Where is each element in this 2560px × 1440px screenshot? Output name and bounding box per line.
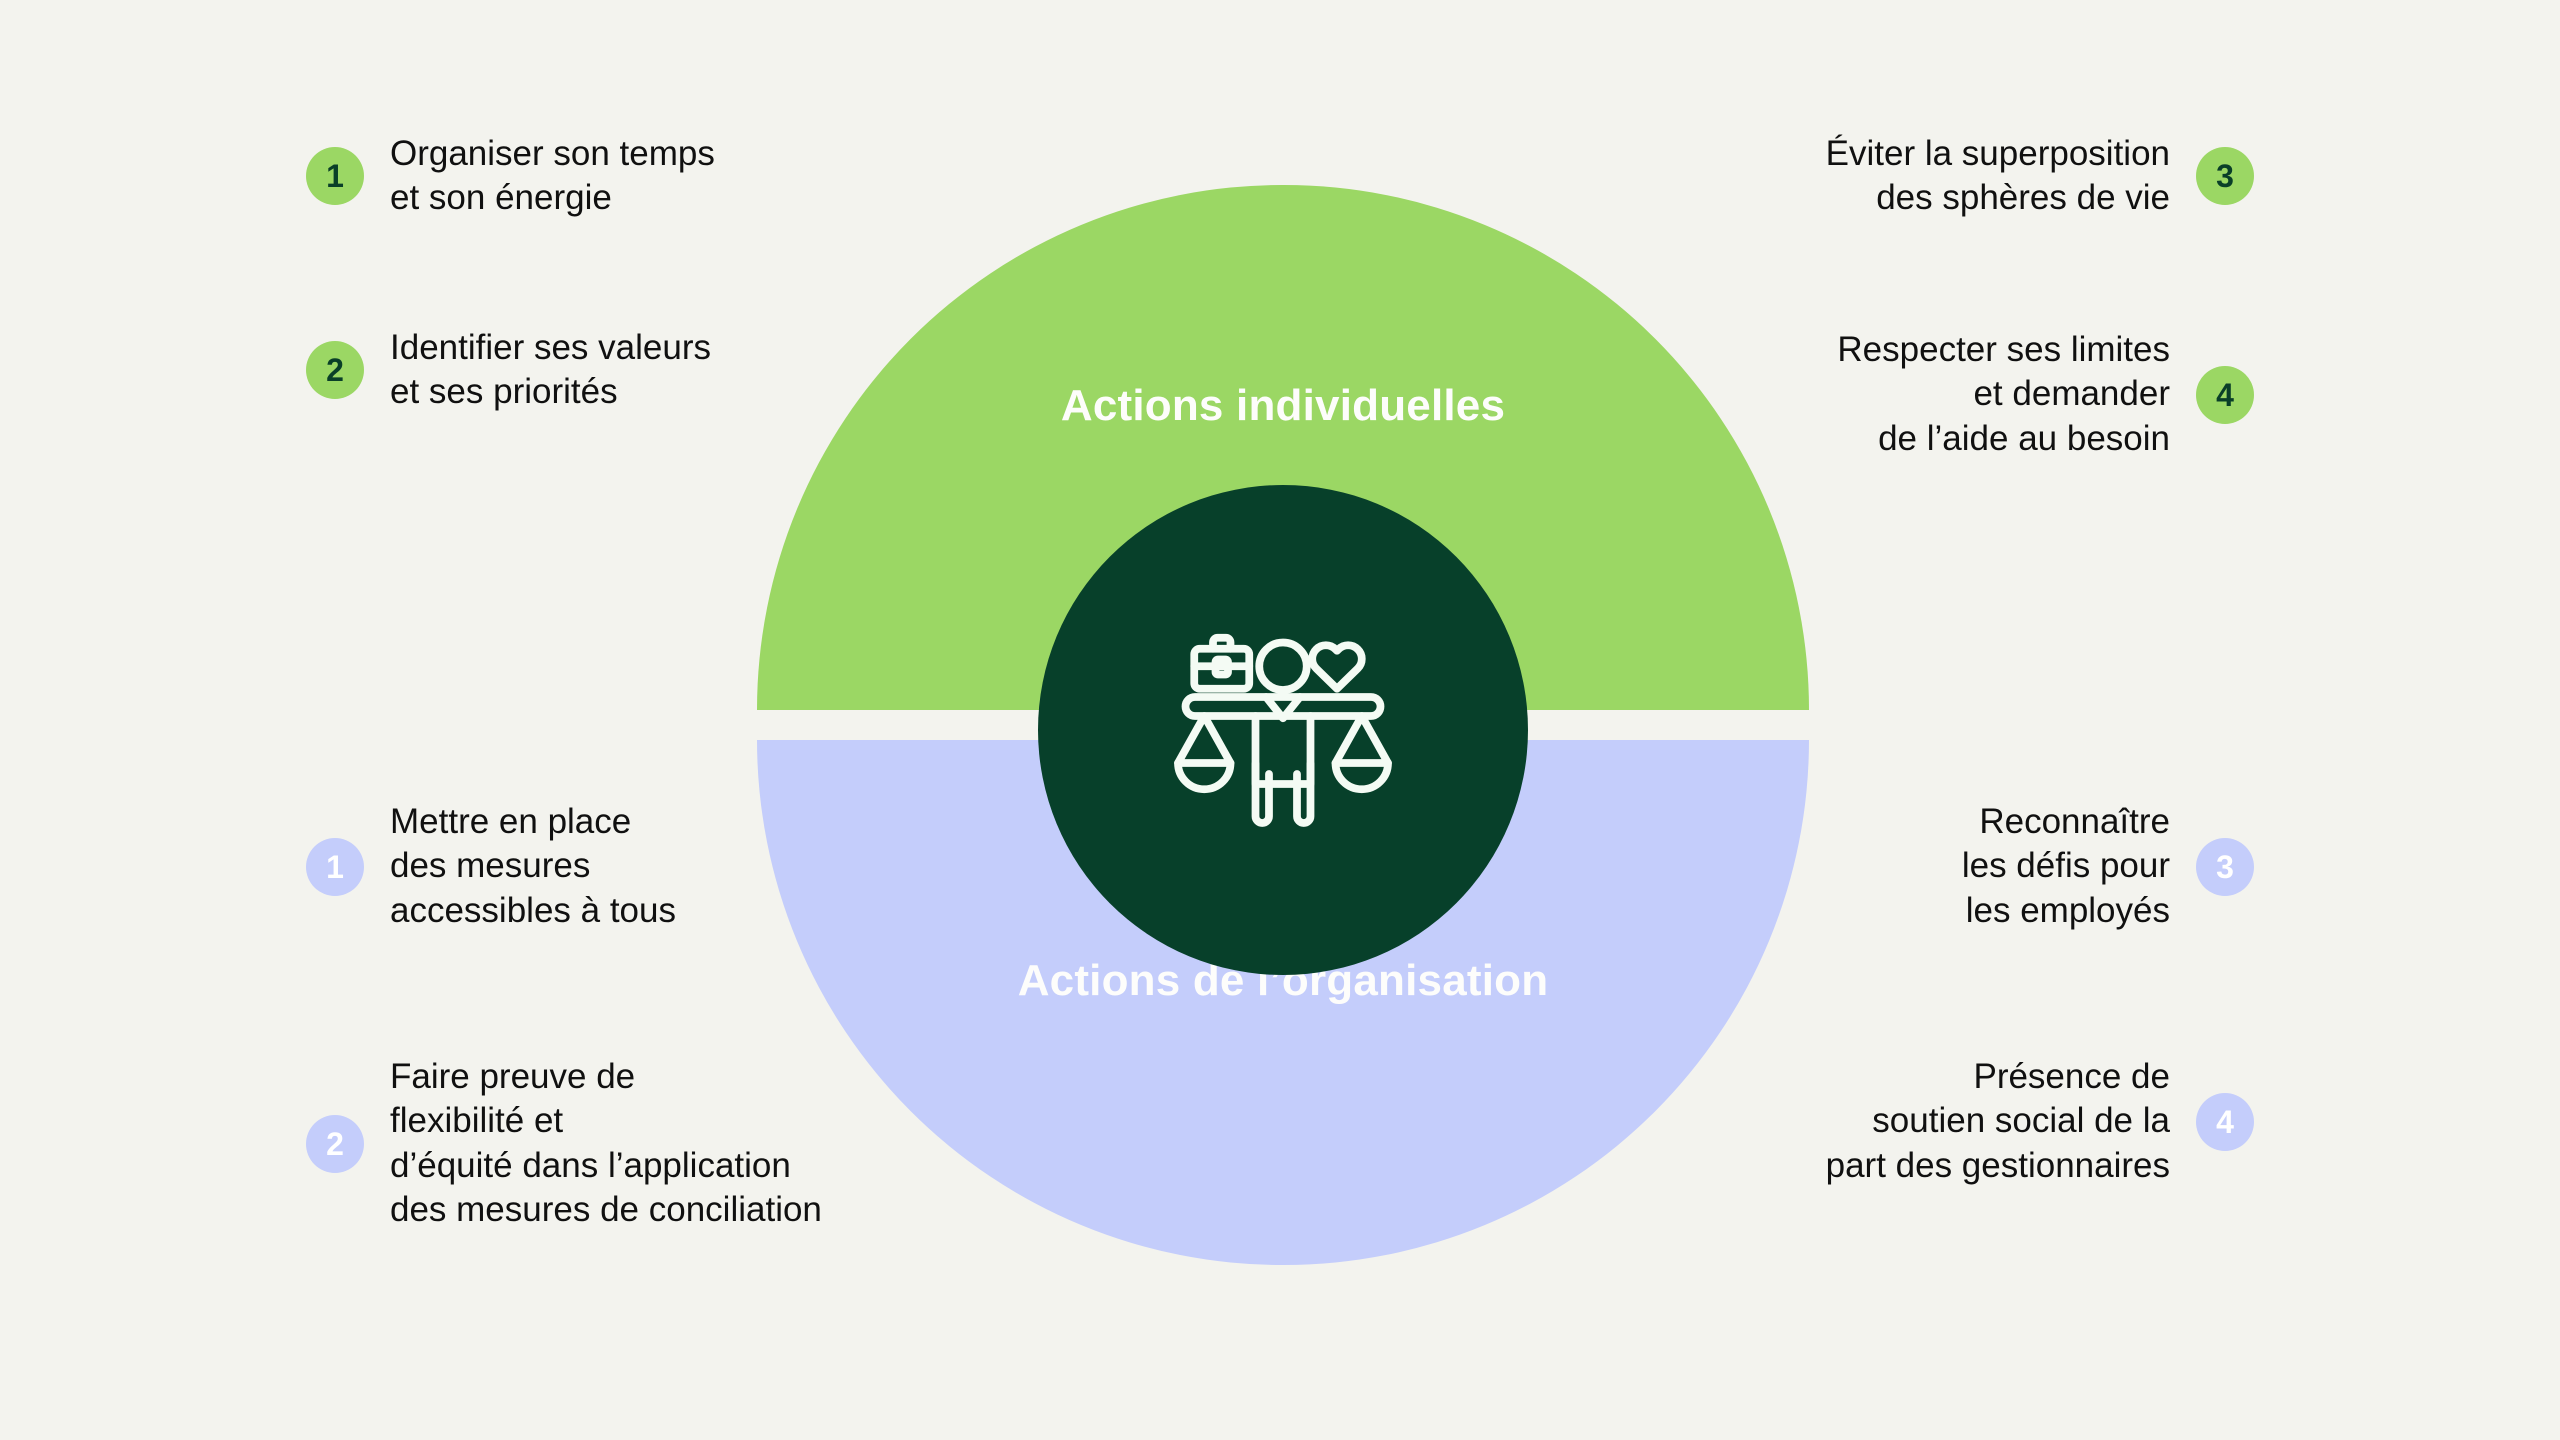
badge-number: 2	[306, 341, 364, 399]
list-item-label: Faire preuve de flexibilité et d’équité …	[390, 1055, 822, 1233]
badge-number: 2	[306, 1115, 364, 1173]
individual-actions-label: Actions individuelles	[757, 380, 1809, 432]
badge-number: 3	[2196, 147, 2254, 205]
badge-number: 3	[2196, 838, 2254, 896]
list-item-individual-4: 4 Respecter ses limites et demander de l…	[1837, 328, 2254, 461]
list-item-label: Reconnaître les défis pour les employés	[1962, 800, 2170, 933]
list-item-label: Mettre en place des mesures accessibles …	[390, 800, 676, 933]
list-item-organisation-1: 1 Mettre en place des mesures accessible…	[306, 800, 676, 933]
list-item-organisation-4: 4 Présence de soutien social de la part …	[1826, 1055, 2254, 1188]
badge-number: 1	[306, 147, 364, 205]
list-item-individual-2: 2 Identifier ses valeurs et ses priorité…	[306, 326, 711, 415]
badge-number: 4	[2196, 1093, 2254, 1151]
list-item-label: Identifier ses valeurs et ses priorités	[390, 326, 711, 415]
list-item-label: Organiser son temps et son énergie	[390, 132, 715, 221]
list-item-organisation-3: 3 Reconnaître les défis pour les employé…	[1962, 800, 2254, 933]
list-item-organisation-2: 2 Faire preuve de flexibilité et d’équit…	[306, 1055, 822, 1233]
list-item-individual-3: 3 Éviter la superposition des sphères de…	[1826, 132, 2254, 221]
list-item-label: Présence de soutien social de la part de…	[1826, 1055, 2170, 1188]
split-circle-diagram: Actions individuelles Actions de l’organ…	[757, 185, 1809, 1265]
badge-number: 4	[2196, 366, 2254, 424]
list-item-individual-1: 1 Organiser son temps et son énergie	[306, 132, 715, 221]
badge-number: 1	[306, 838, 364, 896]
list-item-label: Respecter ses limites et demander de l’a…	[1837, 328, 2170, 461]
work-life-balance-scales-icon	[1158, 605, 1408, 855]
list-item-label: Éviter la superposition des sphères de v…	[1826, 132, 2170, 221]
infographic-canvas: Actions individuelles Actions de l’organ…	[0, 0, 2560, 1440]
center-disc	[1038, 485, 1528, 975]
